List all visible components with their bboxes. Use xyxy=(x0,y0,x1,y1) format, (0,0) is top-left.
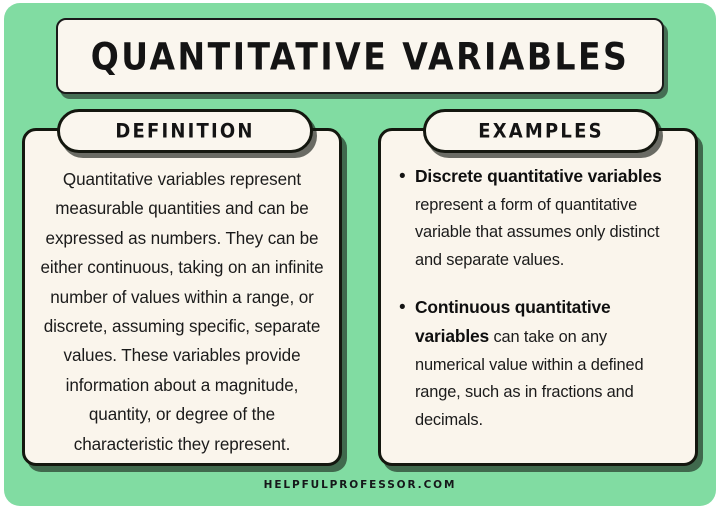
list-item-text: Continuous quantitative variables can ta… xyxy=(415,294,679,434)
bullet-icon: • xyxy=(399,163,415,190)
bullet-icon: • xyxy=(399,294,415,321)
page-title: QUANTITATIVE VARIABLES xyxy=(91,34,630,78)
examples-heading-label: EXAMPLES xyxy=(478,120,604,143)
infographic-root: QUANTITATIVE VARIABLES DEFINITION Quanti… xyxy=(0,0,720,509)
list-item-rest: represent a form of quantitative variabl… xyxy=(415,196,659,269)
title-banner: QUANTITATIVE VARIABLES xyxy=(56,18,664,94)
footer-attribution: HELPFULPROFESSOR.COM xyxy=(0,479,720,491)
list-item: • Discrete quantitative variables repres… xyxy=(399,163,679,274)
examples-card: EXAMPLES • Discrete quantitative variabl… xyxy=(378,128,698,466)
list-item-lead: Discrete quantitative variables xyxy=(415,166,662,186)
definition-body-text: Quantitative variables represent measura… xyxy=(39,165,325,459)
definition-heading-label: DEFINITION xyxy=(115,120,254,143)
list-item: • Continuous quantitative variables can … xyxy=(399,294,679,434)
definition-heading-pill: DEFINITION xyxy=(57,109,313,153)
examples-list: • Discrete quantitative variables repres… xyxy=(399,163,679,454)
examples-heading-pill: EXAMPLES xyxy=(423,109,659,153)
list-item-text: Discrete quantitative variables represen… xyxy=(415,163,679,274)
definition-card: DEFINITION Quantitative variables repres… xyxy=(22,128,342,466)
